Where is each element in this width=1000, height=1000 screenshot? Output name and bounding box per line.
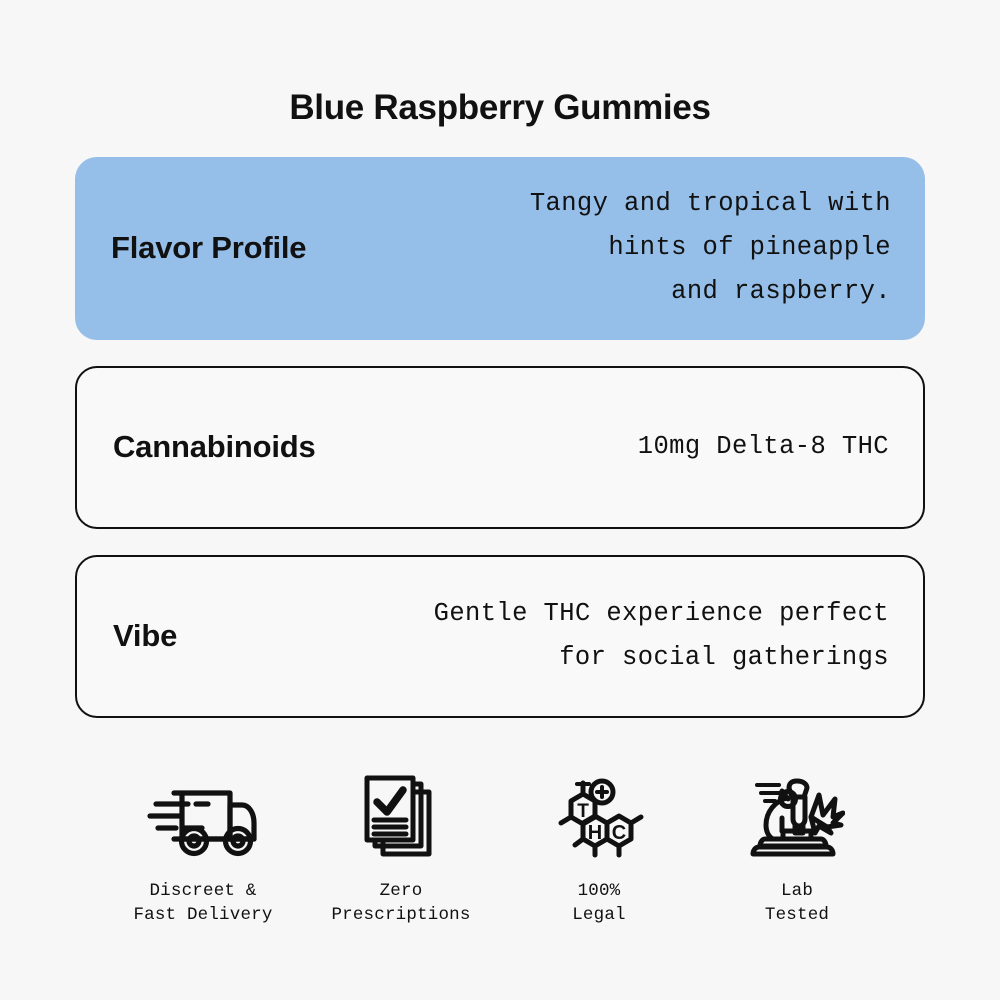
feature-badge-row: Discreet & Fast Delivery Zero Prescripti… <box>0 744 1000 929</box>
attribute-value: Gentle THC experience perfect for social… <box>177 592 889 680</box>
attribute-value: 10mg Delta-8 THC <box>316 425 889 469</box>
thc-molecule-icon: T H C <box>553 773 645 865</box>
attribute-value: Tangy and tropical with hints of pineapp… <box>306 182 891 314</box>
documents-check-icon <box>353 773 449 865</box>
attribute-label: Flavor Profile <box>109 230 306 266</box>
svg-text:H: H <box>588 822 602 844</box>
svg-text:T: T <box>577 801 589 822</box>
feature-label: Lab Tested <box>765 879 829 929</box>
attribute-card-vibe: Vibe Gentle THC experience perfect for s… <box>75 555 925 718</box>
attribute-label: Cannabinoids <box>111 429 316 465</box>
feature-label: Zero Prescriptions <box>331 879 470 929</box>
delivery-truck-icon <box>144 773 262 865</box>
feature-badge-legal: T H C 100% Legal <box>504 773 694 929</box>
product-info-card: Blue Raspberry Gummies Flavor Profile Ta… <box>0 0 1000 1000</box>
page-title: Blue Raspberry Gummies <box>0 0 1000 128</box>
microscope-leaf-icon <box>749 773 845 865</box>
attribute-card-flavor-profile: Flavor Profile Tangy and tropical with h… <box>75 157 925 340</box>
svg-text:C: C <box>612 822 626 844</box>
feature-badge-lab-tested: Lab Tested <box>702 773 892 929</box>
attribute-card-cannabinoids: Cannabinoids 10mg Delta-8 THC <box>75 366 925 529</box>
attribute-card-list: Flavor Profile Tangy and tropical with h… <box>0 157 1000 718</box>
attribute-label: Vibe <box>111 618 177 654</box>
feature-label: Discreet & Fast Delivery <box>133 879 272 929</box>
feature-badge-prescriptions: Zero Prescriptions <box>306 773 496 929</box>
feature-label: 100% Legal <box>572 879 626 929</box>
feature-badge-delivery: Discreet & Fast Delivery <box>108 773 298 929</box>
